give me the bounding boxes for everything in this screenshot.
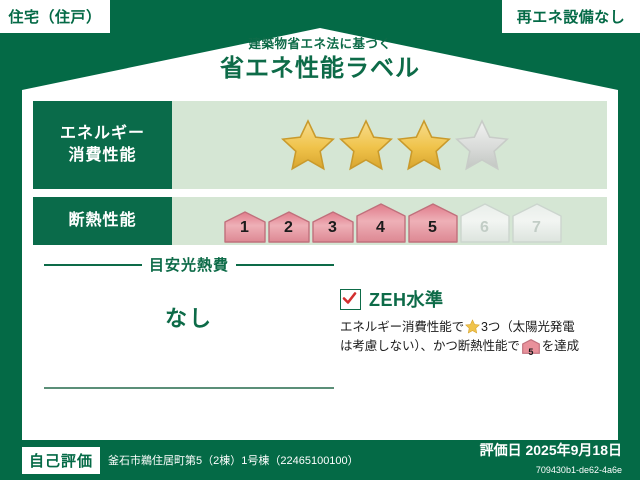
inline-house-number: 5 [522,346,540,360]
row-insulation-performance: 断熱性能 1234567 [33,197,607,245]
utility-cost-block: 目安光熱費 なし [44,254,334,333]
utility-cost-rule-left [44,264,142,266]
insulation-level-number: 2 [268,219,310,237]
zeh-checkbox[interactable] [340,289,361,310]
inline-star-icon [465,319,480,334]
inline-house-icon: 5 [522,339,540,360]
utility-cost-title: 目安光熱費 [149,254,229,275]
label-body-panel: エネルギー 消費性能 断熱性能 1234567 目安光熱費 なし [22,94,618,440]
row-energy-value [172,101,607,189]
zeh-block: ZEH水準 エネルギー消費性能で3つ（太陽光発電は考慮しない）、かつ断熱性能で5… [340,286,610,361]
row-energy-label-line1: エネルギー [60,123,145,145]
star-filled-icon [397,118,451,172]
zeh-desc-part3: を達成 [542,339,579,353]
zeh-title: ZEH水準 [369,286,444,312]
star-empty-icon [455,118,509,172]
utility-cost-header: 目安光熱費 [44,254,334,275]
roof-shape [22,28,618,98]
footer-inner: 自己評価 釜石市鵜住居町第5（2棟）1号棟（22465100100） 評価日 2… [22,440,622,480]
star-rating [281,118,509,172]
zeh-desc-part2: は考慮しない）、かつ断熱性能で [340,339,520,353]
evaluation-id: 709430b1-de62-4a6e [536,465,622,475]
row-insulation-label: 断熱性能 [33,197,172,245]
utility-cost-rule-right [236,264,334,266]
insulation-level-number: 7 [512,219,562,237]
row-insulation-label-text: 断熱性能 [68,210,136,232]
energy-label-root: 住宅（住戸） 再エネ設備なし 建築物省エネ法に基づく 省エネ性能ラベル エネルギ… [0,0,640,480]
zeh-description: エネルギー消費性能で3つ（太陽光発電は考慮しない）、かつ断熱性能で5を達成 [340,318,610,361]
self-evaluation-badge: 自己評価 [22,447,100,474]
row-energy-label-line2: 消費性能 [68,145,136,167]
utility-cost-bottom-rule [44,387,334,389]
insulation-level-4: 4 [356,203,406,243]
footer-right-block: 評価日 2025年9月18日 709430b1-de62-4a6e [480,442,622,478]
insulation-level-number: 3 [312,219,354,237]
star-filled-icon [339,118,393,172]
insulation-level-7: 7 [512,203,562,243]
row-energy-performance: エネルギー 消費性能 [33,101,607,189]
insulation-level-scale: 1234567 [224,199,562,243]
insulation-level-number: 5 [408,219,458,237]
insulation-level-1: 1 [224,211,266,243]
insulation-level-number: 4 [356,219,406,237]
zeh-desc-star-count: 3つ（太陽光発電 [481,320,575,334]
star-filled-icon [281,118,335,172]
insulation-level-6: 6 [460,203,510,243]
row-insulation-value: 1234567 [172,197,607,245]
insulation-level-5: 5 [408,203,458,243]
utility-cost-value: なし [44,301,334,333]
zeh-title-row: ZEH水準 [340,286,610,312]
evaluation-date: 評価日 2025年9月18日 [480,442,622,458]
insulation-level-number: 6 [460,219,510,237]
property-address: 釜石市鵜住居町第5（2棟）1号棟（22465100100） [108,452,359,468]
insulation-level-3: 3 [312,211,354,243]
label-footer: 自己評価 釜石市鵜住居町第5（2棟）1号棟（22465100100） 評価日 2… [0,440,640,480]
insulation-level-2: 2 [268,211,310,243]
row-energy-label: エネルギー 消費性能 [33,101,172,189]
zeh-desc-part1: エネルギー消費性能で [340,320,464,334]
insulation-level-number: 1 [224,219,266,237]
